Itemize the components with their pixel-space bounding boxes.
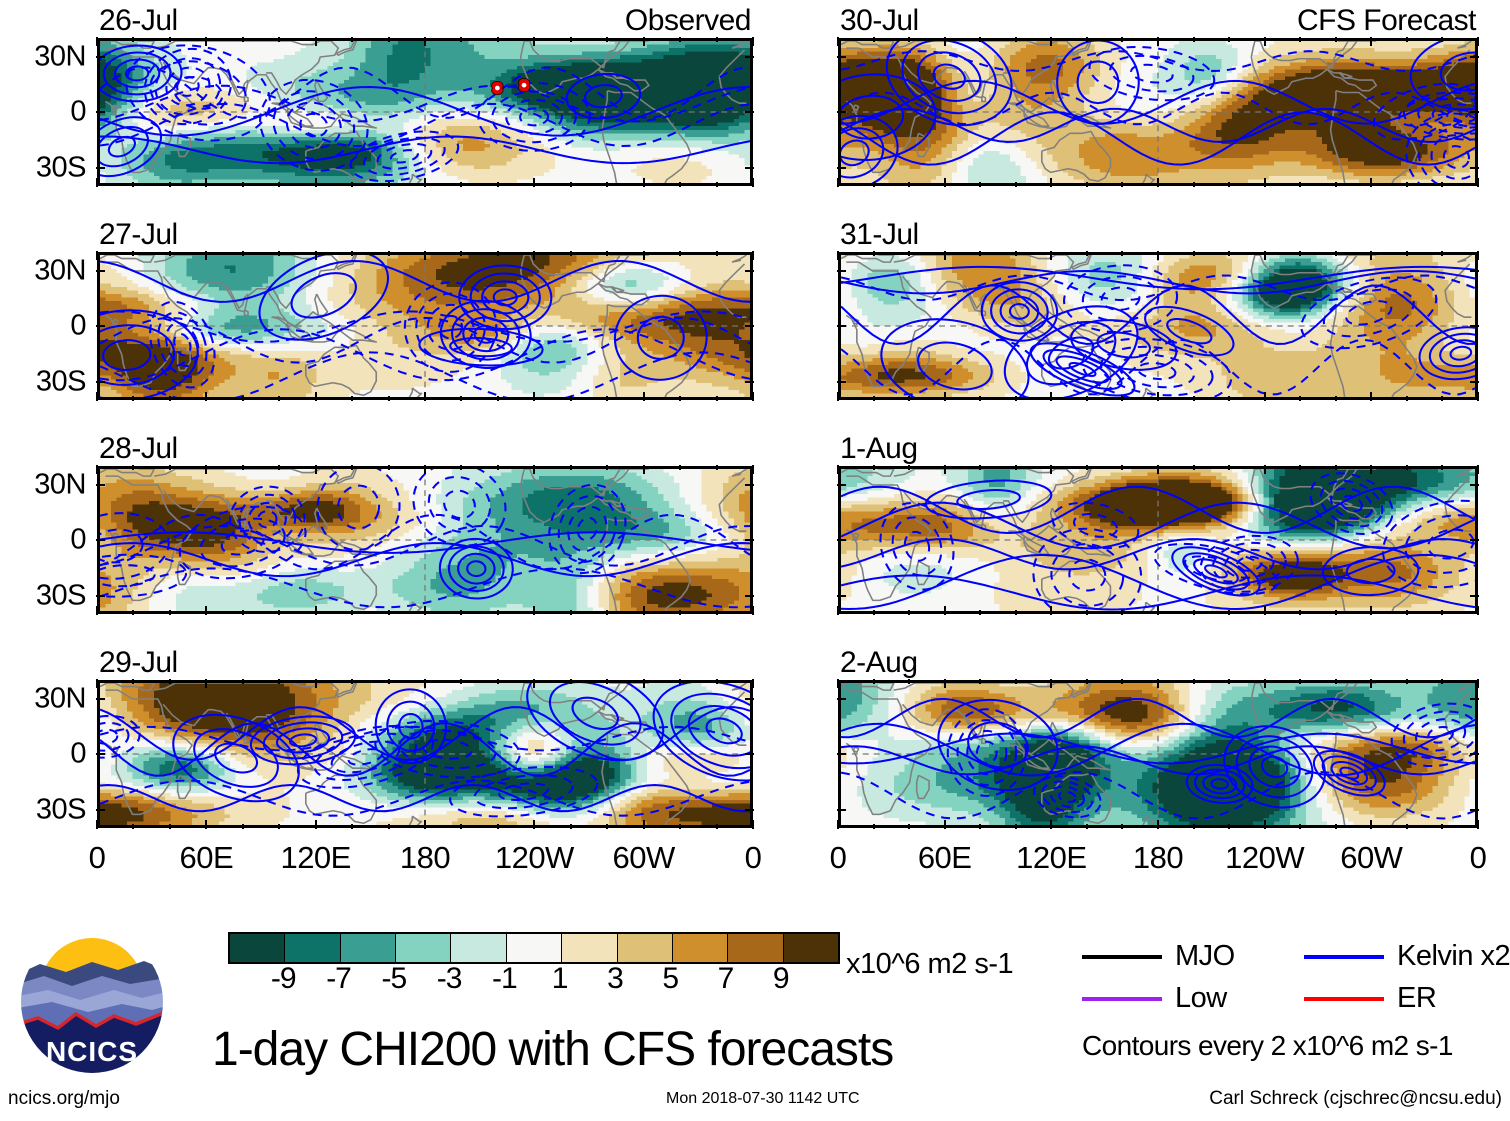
y-tick (96, 595, 105, 597)
x-tick (278, 182, 280, 187)
x-tick (1335, 679, 1337, 684)
x-tick (315, 251, 317, 260)
x-tick (533, 392, 535, 401)
x-tick (388, 610, 390, 615)
x-tick (1050, 37, 1052, 46)
x-tick (1086, 465, 1088, 470)
y-tick (745, 381, 754, 383)
x-tick (570, 824, 572, 829)
x-tick (1157, 178, 1159, 187)
x-tick (1121, 396, 1123, 401)
x-tick (1477, 178, 1479, 187)
x-tick (1264, 251, 1266, 260)
x-tick (1335, 251, 1337, 256)
panel-date-label: 30-Jul (840, 4, 919, 38)
x-tick (1228, 37, 1230, 42)
x-tick (716, 182, 718, 187)
x-tick (460, 182, 462, 187)
x-tick (424, 679, 426, 688)
x-tick (1193, 251, 1195, 256)
x-tick (205, 606, 207, 615)
x-axis-label: 0 (830, 840, 847, 876)
x-tick (169, 465, 171, 470)
x-tick (570, 251, 572, 256)
x-tick (460, 679, 462, 684)
x-tick (643, 465, 645, 474)
colorbar-swatch (230, 934, 285, 962)
x-tick (1157, 465, 1159, 474)
x-tick (533, 251, 535, 260)
x-tick (351, 251, 353, 256)
legend-item-kelvin: Kelvin x2 (1304, 940, 1510, 973)
x-tick (979, 182, 981, 187)
y-axis-label: 30S (36, 151, 86, 184)
x-tick (1264, 178, 1266, 187)
x-tick (606, 396, 608, 401)
x-tick (944, 820, 946, 829)
x-tick (351, 396, 353, 401)
x-tick (643, 679, 645, 688)
x-tick (837, 606, 839, 615)
x-tick (1370, 820, 1372, 829)
x-tick (242, 679, 244, 684)
y-tick (837, 595, 846, 597)
x-tick (944, 465, 946, 474)
y-tick (96, 809, 105, 811)
colorbar-tick-label: 7 (718, 962, 734, 996)
x-tick (1441, 396, 1443, 401)
x-tick (679, 679, 681, 684)
x-tick (533, 820, 535, 829)
x-tick (716, 37, 718, 42)
footer-timestamp: Mon 2018-07-30 1142 UTC (666, 1090, 860, 1108)
panel-29-jul: 29-Jul30N030S (97, 680, 753, 828)
x-tick (351, 465, 353, 470)
x-tick (1157, 679, 1159, 688)
x-tick (1299, 182, 1301, 187)
legend-label-low: Low (1175, 982, 1227, 1015)
x-tick (533, 178, 535, 187)
x-tick (497, 37, 499, 42)
x-tick (1441, 465, 1443, 470)
x-tick (570, 182, 572, 187)
y-tick (96, 484, 105, 486)
y-axis-label: 30N (34, 468, 86, 501)
panel-28-jul: 28-Jul30N030S (97, 466, 753, 614)
x-axis-label: 120W (495, 840, 574, 876)
y-axis-label: 0 (70, 524, 86, 557)
colorbar-tick-label: 1 (552, 962, 568, 996)
x-tick (1228, 465, 1230, 470)
x-tick (1015, 37, 1017, 42)
x-axis-right: 060E120E180120W60W0 (838, 840, 1478, 878)
y-tick (837, 753, 846, 755)
colorbar-tick-labels: -9-7-5-3-113579 (228, 962, 836, 998)
x-tick (979, 824, 981, 829)
x-tick (752, 251, 754, 260)
x-tick (96, 251, 98, 260)
x-tick (278, 396, 280, 401)
x-tick (351, 182, 353, 187)
y-tick (745, 167, 754, 169)
y-tick (96, 167, 105, 169)
x-tick (1441, 610, 1443, 615)
x-tick (132, 37, 134, 42)
x-tick (1228, 396, 1230, 401)
footer-website[interactable]: ncics.org/mjo (8, 1088, 120, 1110)
panel-30-jul: 30-JulCFS Forecast (838, 38, 1478, 186)
contour-interval-note: Contours every 2 x10^6 m2 s-1 (1082, 1030, 1453, 1062)
x-tick (1299, 465, 1301, 470)
x-tick (1157, 37, 1159, 46)
colorbar-swatch (673, 934, 728, 962)
x-tick (1299, 679, 1301, 684)
map-area (838, 252, 1478, 400)
x-tick (643, 178, 645, 187)
y-tick (745, 809, 754, 811)
x-tick (716, 465, 718, 470)
x-tick (278, 610, 280, 615)
x-tick (1121, 610, 1123, 615)
x-axis-label: 120E (1016, 840, 1086, 876)
x-tick (388, 396, 390, 401)
x-tick (1299, 610, 1301, 615)
x-tick (837, 392, 839, 401)
x-tick (388, 679, 390, 684)
colorbar-units-label: x10^6 m2 s-1 (846, 948, 1013, 981)
x-axis-label: 0 (89, 840, 106, 876)
x-tick (752, 465, 754, 474)
x-tick (132, 251, 134, 256)
x-tick (979, 465, 981, 470)
y-tick (1470, 270, 1479, 272)
x-tick (679, 251, 681, 256)
colorbar-swatch (341, 934, 396, 962)
x-tick (606, 824, 608, 829)
x-tick (1015, 396, 1017, 401)
x-tick (944, 251, 946, 260)
x-tick (96, 465, 98, 474)
x-tick (1157, 820, 1159, 829)
x-tick (1228, 610, 1230, 615)
map-area (97, 466, 753, 614)
y-axis-label: 30S (36, 365, 86, 398)
x-tick (205, 679, 207, 688)
x-tick (873, 251, 875, 256)
x-tick (1441, 37, 1443, 42)
x-tick (643, 251, 645, 260)
panel-27-jul: 27-Jul30N030S (97, 252, 753, 400)
y-axis-label: 30N (34, 40, 86, 73)
panel-date-label: 31-Jul (840, 218, 919, 252)
x-tick (1335, 37, 1337, 42)
x-tick (205, 37, 207, 46)
x-tick (1228, 679, 1230, 684)
y-tick (745, 698, 754, 700)
y-tick (745, 111, 754, 113)
x-tick (460, 396, 462, 401)
x-tick (242, 37, 244, 42)
legend-item-mjo: MJO (1082, 940, 1235, 973)
x-tick (1264, 392, 1266, 401)
x-tick (1406, 251, 1408, 256)
x-tick (1406, 610, 1408, 615)
colorbar-swatch (507, 934, 562, 962)
x-tick (1015, 182, 1017, 187)
x-tick (643, 820, 645, 829)
x-tick (979, 37, 981, 42)
x-tick (96, 392, 98, 401)
x-tick (533, 606, 535, 615)
x-axis-label: 120E (280, 840, 350, 876)
x-tick (716, 396, 718, 401)
x-tick (570, 679, 572, 684)
x-tick (96, 820, 98, 829)
x-tick (908, 465, 910, 470)
x-tick (96, 178, 98, 187)
panel-date-label: 27-Jul (99, 218, 178, 252)
x-axis-label: 180 (400, 840, 450, 876)
x-tick (1121, 679, 1123, 684)
x-tick (242, 396, 244, 401)
y-axis-label: 30S (36, 793, 86, 826)
x-tick (1086, 182, 1088, 187)
x-tick (460, 824, 462, 829)
colorbar-swatch (728, 934, 783, 962)
x-tick (908, 396, 910, 401)
colorbar-tick-label: 5 (662, 962, 678, 996)
x-tick (424, 606, 426, 615)
y-tick (745, 595, 754, 597)
panel-26-jul: 26-JulObserved30N030S (97, 38, 753, 186)
x-tick (1050, 820, 1052, 829)
x-tick (606, 610, 608, 615)
x-tick (1477, 606, 1479, 615)
x-tick (242, 465, 244, 470)
x-tick (351, 610, 353, 615)
x-tick (908, 182, 910, 187)
y-tick (96, 270, 105, 272)
colorbar-swatch (618, 934, 673, 962)
x-axis-label: 60W (613, 840, 675, 876)
x-tick (1193, 610, 1195, 615)
x-tick (606, 251, 608, 256)
y-tick (1470, 56, 1479, 58)
x-tick (873, 396, 875, 401)
x-tick (132, 824, 134, 829)
colorbar-swatch (562, 934, 617, 962)
colorbar-tick-label: 9 (773, 962, 789, 996)
colorbar-swatch (396, 934, 451, 962)
x-tick (1086, 610, 1088, 615)
x-tick (1015, 679, 1017, 684)
colorbar-tick-label: -3 (437, 962, 462, 996)
x-tick (1157, 251, 1159, 260)
x-tick (242, 251, 244, 256)
y-tick (837, 325, 846, 327)
x-tick (679, 824, 681, 829)
y-tick (745, 56, 754, 58)
x-tick (424, 251, 426, 260)
y-tick (96, 539, 105, 541)
x-tick (351, 37, 353, 42)
x-tick (460, 37, 462, 42)
x-tick (388, 182, 390, 187)
x-tick (1299, 396, 1301, 401)
x-tick (1370, 606, 1372, 615)
x-tick (1335, 465, 1337, 470)
x-tick (979, 679, 981, 684)
x-tick (979, 396, 981, 401)
x-tick (679, 37, 681, 42)
x-tick (1121, 182, 1123, 187)
x-tick (1406, 679, 1408, 684)
map-area (97, 252, 753, 400)
y-tick (1470, 111, 1479, 113)
x-tick (460, 465, 462, 470)
x-tick (837, 37, 839, 46)
colorbar (228, 932, 840, 964)
x-tick (424, 392, 426, 401)
x-tick (351, 679, 353, 684)
x-tick (1406, 396, 1408, 401)
x-tick (1299, 37, 1301, 42)
x-tick (388, 465, 390, 470)
colorbar-swatch (451, 934, 506, 962)
map-area (838, 38, 1478, 186)
colorbar-swatch (285, 934, 340, 962)
x-tick (1441, 679, 1443, 684)
x-tick (1477, 37, 1479, 46)
x-axis-label: 180 (1133, 840, 1183, 876)
x-tick (908, 251, 910, 256)
x-tick (169, 824, 171, 829)
x-tick (1015, 465, 1017, 470)
x-tick (533, 465, 535, 474)
x-tick (1441, 182, 1443, 187)
y-axis-label: 30N (34, 682, 86, 715)
x-tick (979, 251, 981, 256)
x-tick (1086, 37, 1088, 42)
y-tick (837, 167, 846, 169)
x-tick (132, 610, 134, 615)
x-tick (424, 465, 426, 474)
x-tick (169, 396, 171, 401)
x-tick (96, 679, 98, 688)
x-tick (1370, 392, 1372, 401)
colorbar-tick-label: 3 (607, 962, 623, 996)
x-axis-label: 120W (1225, 840, 1304, 876)
x-tick (606, 37, 608, 42)
x-tick (752, 606, 754, 615)
x-tick (873, 824, 875, 829)
y-tick (1470, 698, 1479, 700)
x-tick (1477, 679, 1479, 688)
y-tick (745, 270, 754, 272)
map-area (838, 680, 1478, 828)
x-tick (606, 465, 608, 470)
x-tick (388, 251, 390, 256)
x-tick (1157, 392, 1159, 401)
x-tick (1193, 465, 1195, 470)
panel-date-label: 28-Jul (99, 432, 178, 466)
x-tick (643, 392, 645, 401)
x-tick (169, 679, 171, 684)
x-tick (205, 392, 207, 401)
x-tick (497, 824, 499, 829)
x-tick (1370, 251, 1372, 260)
legend-swatch-mjo (1082, 955, 1162, 959)
x-tick (205, 178, 207, 187)
legend: MJO Kelvin x2 Low ER (1082, 940, 1502, 1020)
x-tick (169, 37, 171, 42)
x-tick (497, 182, 499, 187)
x-tick (606, 182, 608, 187)
legend-item-low: Low (1082, 982, 1227, 1015)
y-axis-label: 0 (70, 738, 86, 771)
panel-date-label: 2-Aug (840, 646, 918, 680)
x-tick (1406, 37, 1408, 42)
x-tick (497, 610, 499, 615)
x-tick (752, 178, 754, 187)
x-tick (643, 37, 645, 46)
x-tick (1264, 606, 1266, 615)
x-tick (752, 679, 754, 688)
y-axis-label: 30S (36, 579, 86, 612)
y-tick (837, 809, 846, 811)
x-tick (1477, 465, 1479, 474)
x-tick (205, 251, 207, 260)
x-tick (497, 251, 499, 256)
x-tick (716, 824, 718, 829)
x-tick (278, 465, 280, 470)
x-tick (1193, 679, 1195, 684)
x-tick (533, 679, 535, 688)
x-tick (873, 182, 875, 187)
x-tick (1264, 465, 1266, 474)
colorbar-tick-label: -7 (326, 962, 351, 996)
x-tick (388, 37, 390, 42)
x-tick (1193, 824, 1195, 829)
map-area (838, 466, 1478, 614)
x-tick (278, 37, 280, 42)
colorbar-tick-label: -1 (492, 962, 517, 996)
ncics-logo: NCICS (18, 928, 166, 1076)
x-tick (1050, 392, 1052, 401)
x-tick (837, 178, 839, 187)
x-tick (1050, 679, 1052, 688)
x-tick (1406, 182, 1408, 187)
x-tick (315, 820, 317, 829)
x-tick (424, 820, 426, 829)
x-tick (1299, 251, 1301, 256)
y-tick (837, 539, 846, 541)
x-tick (1228, 182, 1230, 187)
x-tick (1370, 37, 1372, 46)
x-tick (643, 606, 645, 615)
y-tick (96, 325, 105, 327)
x-tick (1015, 610, 1017, 615)
panel-date-label: 29-Jul (99, 646, 178, 680)
y-tick (96, 698, 105, 700)
panel-1-aug: 1-Aug (838, 466, 1478, 614)
x-tick (873, 679, 875, 684)
x-tick (679, 610, 681, 615)
x-tick (944, 606, 946, 615)
panel-2-aug: 2-Aug (838, 680, 1478, 828)
x-tick (679, 396, 681, 401)
x-tick (1477, 251, 1479, 260)
